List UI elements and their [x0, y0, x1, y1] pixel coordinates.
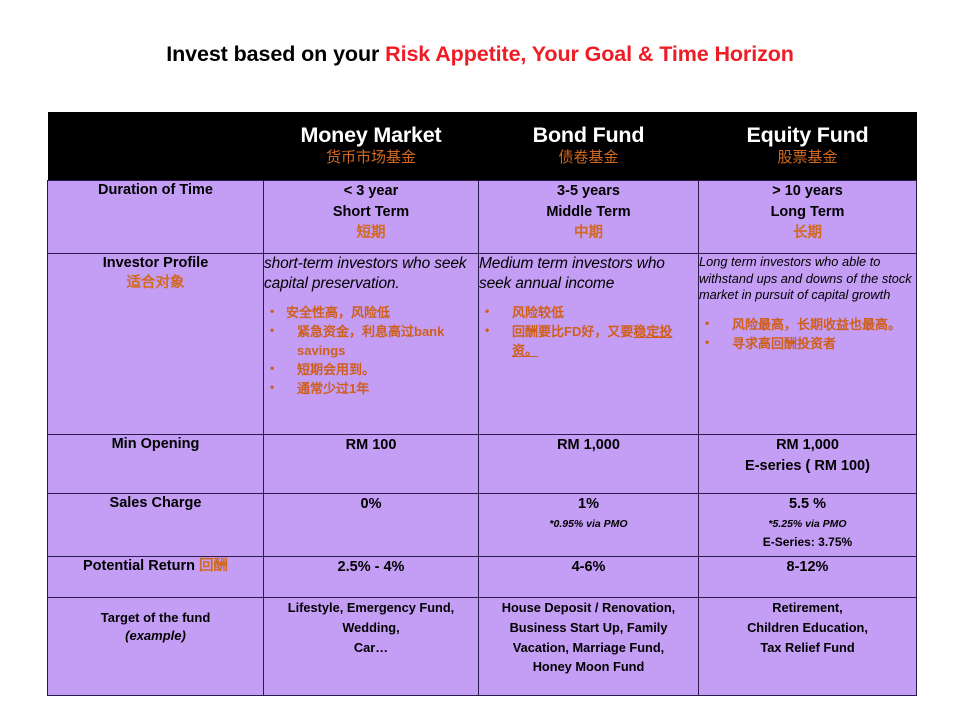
sales-charge-ef-value: 5.5 % — [699, 494, 916, 515]
duration-mm-line1: < 3 year — [264, 181, 478, 202]
sales-charge-bf-value: 1% — [479, 494, 698, 515]
row-label-target-of-fund-sub: (example) — [48, 627, 263, 645]
row-label-target-of-fund: Target of the fund (example) — [48, 598, 264, 696]
duration-bf-line1: 3-5 years — [479, 181, 698, 202]
profile-ef-bullet-list: 风险最高，长期收益也最高。 寻求高回酬投资者 — [699, 316, 916, 354]
duration-mm-line2: Short Term — [264, 202, 478, 223]
min-opening-ef-eseries: E-series ( RM 100) — [699, 456, 916, 477]
page-title: Invest based on your Risk Appetite, Your… — [0, 42, 960, 67]
fund-comparison-table: Money Market 货币市场基金 Bond Fund 债卷基金 Equit… — [47, 112, 917, 696]
row-label-duration: Duration of Time — [48, 181, 264, 254]
min-opening-ef-value: RM 1,000 — [699, 435, 916, 456]
header-subtitle-bond-fund: 债卷基金 — [479, 149, 699, 168]
header-cell-bond-fund: Bond Fund 债卷基金 — [479, 112, 699, 181]
list-item: 短期会用到。 — [264, 361, 478, 379]
table-row-min-opening: Min Opening RM 100 RM 1,000 RM 1,000 E-s… — [48, 435, 917, 494]
cell-duration-equity-fund: > 10 years Long Term 长期 — [699, 181, 917, 254]
cell-potential-return-bond-fund: 4-6% — [479, 557, 699, 598]
profile-mm-lede: short-term investors who seek capital pr… — [264, 254, 478, 294]
duration-ef-line1: > 10 years — [699, 181, 916, 202]
row-label-investor-profile-text: Investor Profile — [103, 255, 209, 271]
row-label-potential-return-cn: 回酬 — [199, 558, 228, 574]
sales-charge-mm-value: 0% — [264, 494, 478, 515]
slide-canvas: Invest based on your Risk Appetite, Your… — [0, 0, 960, 720]
cell-target-bond-fund: House Deposit / Renovation, Business Sta… — [479, 598, 699, 696]
cell-min-opening-money-market: RM 100 — [264, 435, 479, 494]
table-row-duration: Duration of Time < 3 year Short Term 短期 … — [48, 181, 917, 254]
page-title-accent: Risk Appetite, Your Goal & Time Horizon — [385, 42, 794, 66]
page-title-lead: Invest based on your — [166, 42, 385, 66]
cell-target-money-market: Lifestyle, Emergency Fund, Wedding, Car… — [264, 598, 479, 696]
potential-return-mm-value: 2.5% - 4% — [264, 557, 478, 578]
header-cell-money-market: Money Market 货币市场基金 — [264, 112, 479, 181]
cell-duration-money-market: < 3 year Short Term 短期 — [264, 181, 479, 254]
target-mm-text: Lifestyle, Emergency Fund, Wedding, Car… — [264, 598, 478, 657]
row-label-investor-profile-cn: 适合对象 — [48, 274, 263, 294]
row-label-potential-return: Potential Return 回酬 — [48, 557, 264, 598]
list-item: 回酬要比FD好，又要稳定投资。 — [479, 323, 698, 360]
sales-charge-bf-note: *0.95% via PMO — [479, 517, 698, 532]
target-ef-text: Retirement, Children Education, Tax Reli… — [699, 598, 916, 657]
header-title-equity-fund: Equity Fund — [699, 124, 917, 147]
cell-profile-equity-fund: Long term investors who able to withstan… — [699, 254, 917, 435]
header-cell-corner — [48, 112, 264, 181]
duration-mm-cn: 短期 — [264, 223, 478, 244]
min-opening-bf-value: RM 1,000 — [479, 435, 698, 456]
table-row-target-of-fund: Target of the fund (example) Lifestyle, … — [48, 598, 917, 696]
header-subtitle-equity-fund: 股票基金 — [699, 149, 917, 168]
row-label-min-opening-text: Min Opening — [112, 436, 200, 452]
profile-ef-lede: Long term investors who able to withstan… — [699, 254, 916, 304]
list-item: 风险最高，长期收益也最高。 — [699, 316, 916, 334]
list-item: 紧急资金，利息高过bank savings — [264, 323, 478, 360]
header-title-money-market: Money Market — [264, 124, 479, 147]
profile-bf-bullet-list: 风险较低 回酬要比FD好，又要稳定投资。 — [479, 304, 698, 360]
duration-bf-cn: 中期 — [479, 223, 698, 244]
list-item: 风险较低 — [479, 304, 698, 322]
row-label-investor-profile: Investor Profile 适合对象 — [48, 254, 264, 435]
duration-ef-cn: 长期 — [699, 223, 916, 244]
cell-profile-money-market: short-term investors who seek capital pr… — [264, 254, 479, 435]
header-subtitle-money-market: 货币市场基金 — [264, 149, 479, 168]
sales-charge-ef-eseries: E-Series: 3.75% — [699, 534, 916, 551]
list-item: 通常少过1年 — [264, 380, 478, 398]
cell-min-opening-bond-fund: RM 1,000 — [479, 435, 699, 494]
row-label-sales-charge: Sales Charge — [48, 494, 264, 557]
row-label-potential-return-text: Potential Return — [83, 558, 199, 574]
table-header-row: Money Market 货币市场基金 Bond Fund 债卷基金 Equit… — [48, 112, 917, 181]
fund-comparison-table-wrapper: Money Market 货币市场基金 Bond Fund 债卷基金 Equit… — [47, 112, 916, 696]
cell-sales-charge-bond-fund: 1% *0.95% via PMO — [479, 494, 699, 557]
profile-bf-lede: Medium term investors who seek annual in… — [479, 254, 698, 294]
list-item: 寻求高回酬投资者 — [699, 335, 916, 353]
potential-return-ef-value: 8-12% — [699, 557, 916, 578]
table-row-potential-return: Potential Return 回酬 2.5% - 4% 4-6% 8-12% — [48, 557, 917, 598]
target-bf-text: House Deposit / Renovation, Business Sta… — [479, 598, 698, 677]
row-label-target-of-fund-text: Target of the fund — [101, 610, 211, 625]
row-label-duration-text: Duration of Time — [98, 182, 213, 198]
cell-sales-charge-equity-fund: 5.5 % *5.25% via PMO E-Series: 3.75% — [699, 494, 917, 557]
header-title-bond-fund: Bond Fund — [479, 124, 699, 147]
cell-profile-bond-fund: Medium term investors who seek annual in… — [479, 254, 699, 435]
header-cell-equity-fund: Equity Fund 股票基金 — [699, 112, 917, 181]
duration-bf-line2: Middle Term — [479, 202, 698, 223]
cell-min-opening-equity-fund: RM 1,000 E-series ( RM 100) — [699, 435, 917, 494]
potential-return-bf-value: 4-6% — [479, 557, 698, 578]
duration-ef-line2: Long Term — [699, 202, 916, 223]
cell-duration-bond-fund: 3-5 years Middle Term 中期 — [479, 181, 699, 254]
table-row-investor-profile: Investor Profile 适合对象 short-term investo… — [48, 254, 917, 435]
list-item: 安全性高，风险低 — [264, 304, 478, 322]
table-row-sales-charge: Sales Charge 0% 1% *0.95% via PMO 5.5 % … — [48, 494, 917, 557]
cell-potential-return-money-market: 2.5% - 4% — [264, 557, 479, 598]
profile-mm-bullet-list: 安全性高，风险低 紧急资金，利息高过bank savings 短期会用到。 通常… — [264, 304, 478, 399]
row-label-min-opening: Min Opening — [48, 435, 264, 494]
cell-target-equity-fund: Retirement, Children Education, Tax Reli… — [699, 598, 917, 696]
cell-sales-charge-money-market: 0% — [264, 494, 479, 557]
row-label-sales-charge-text: Sales Charge — [110, 495, 202, 511]
cell-potential-return-equity-fund: 8-12% — [699, 557, 917, 598]
min-opening-mm-value: RM 100 — [264, 435, 478, 456]
sales-charge-ef-note: *5.25% via PMO — [699, 517, 916, 532]
